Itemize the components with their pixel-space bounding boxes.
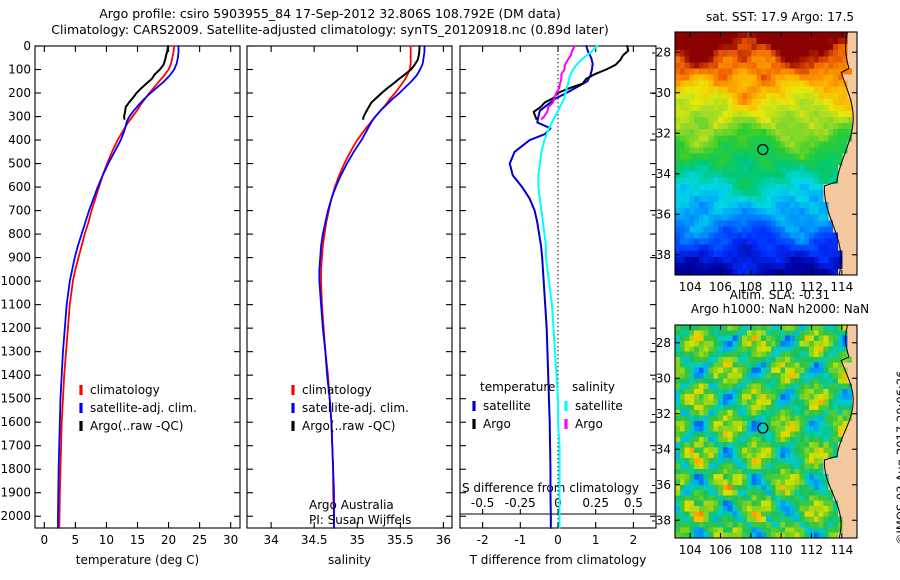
sla-map-cell — [771, 432, 776, 438]
sla-map-cell — [675, 357, 680, 363]
sst-map-cell — [737, 81, 742, 88]
sst-map-cell — [689, 111, 694, 118]
sla-map-cell — [728, 410, 733, 416]
sla-map-cell — [694, 352, 699, 358]
sst-map-cell — [732, 251, 737, 258]
sst-map-cell — [723, 87, 728, 94]
sst-map-cell — [675, 32, 680, 39]
sst-map-cell — [780, 154, 785, 161]
sla-map-cell — [843, 511, 848, 517]
sla-map-cell — [709, 479, 714, 485]
sla-map-cell — [771, 421, 776, 427]
sla-map-cell — [742, 432, 747, 438]
sst-map-cell — [680, 202, 685, 209]
sst-map-cell — [828, 38, 833, 45]
sst-map-cell — [723, 245, 728, 252]
sla-map-cell — [780, 341, 785, 347]
sla-map-cell — [723, 373, 728, 379]
sst-map-cell — [795, 245, 800, 252]
sst-map-ytick-label: -38 — [651, 248, 671, 262]
sst-map-cell — [780, 147, 785, 154]
sst-map-cell — [809, 220, 814, 227]
sst-map-cell — [766, 166, 771, 173]
sst-map-cell — [823, 99, 828, 106]
sla-map-cell — [800, 384, 805, 390]
sst-map-cell — [790, 160, 795, 167]
sst-map-cell — [756, 190, 761, 197]
sla-map-cell — [694, 330, 699, 336]
sst-map-cell — [718, 81, 723, 88]
sla-map-cell — [742, 362, 747, 368]
sst-map-cell — [752, 75, 757, 82]
sla-map-cell — [699, 495, 704, 501]
sst-map-cell — [785, 75, 790, 82]
sla-map-cell — [713, 362, 718, 368]
sla-map-cell — [718, 458, 723, 464]
sst-map-cell — [761, 178, 766, 185]
sst-map-cell — [823, 117, 828, 124]
sst-map-cell — [804, 239, 809, 246]
salinity-xtick-label: 36 — [436, 533, 451, 547]
sst-map-cell — [675, 220, 680, 227]
sst-map-cell — [814, 251, 819, 258]
sla-map-cell — [838, 453, 843, 459]
sla-map-cell — [728, 463, 733, 469]
sla-map-cell — [843, 394, 848, 400]
sla-map-cell — [737, 341, 742, 347]
sla-map-cell — [718, 437, 723, 443]
sst-map-cell — [771, 147, 776, 154]
sst-map-cell — [732, 172, 737, 179]
sst-map-cell — [737, 220, 742, 227]
sst-map-cell — [704, 62, 709, 69]
sst-map-cell — [747, 50, 752, 57]
temperature-curve-2 — [124, 46, 168, 119]
sla-map-cell — [742, 527, 747, 533]
sla-map-cell — [732, 495, 737, 501]
sst-map-cell — [847, 117, 852, 124]
sla-map-cell — [756, 495, 761, 501]
sla-map-cell — [828, 341, 833, 347]
sst-map-cell — [709, 117, 714, 124]
sla-map-cell — [780, 394, 785, 400]
sst-map-cell — [771, 123, 776, 130]
sla-map-cell — [847, 357, 852, 363]
sla-map-cell — [823, 352, 828, 358]
sst-map-cell — [675, 202, 680, 209]
sla-map-cell — [800, 485, 805, 491]
sla-map-cell — [823, 490, 828, 496]
sla-map-cell — [828, 426, 833, 432]
sst-map-cell — [795, 105, 800, 112]
sla-map-cell — [680, 458, 685, 464]
sst-map-cell — [723, 129, 728, 136]
sst-map-cell — [776, 68, 781, 75]
sla-map-cell — [785, 469, 790, 475]
sst-map-cell — [776, 117, 781, 124]
sla-map-cell — [685, 501, 690, 507]
sla-map-cell — [814, 517, 819, 523]
sla-map-cell — [732, 330, 737, 336]
sst-map-cell — [723, 56, 728, 63]
sst-map-cell — [833, 93, 838, 100]
sla-map-cell — [790, 362, 795, 368]
sst-map-cell — [819, 214, 824, 221]
sla-map-cell — [728, 421, 733, 427]
sla-map-cell — [704, 490, 709, 496]
sst-map-cell — [804, 257, 809, 264]
sla-map-cell — [776, 341, 781, 347]
sst-map-cell — [828, 129, 833, 136]
sst-map-cell — [680, 220, 685, 227]
sla-map-cell — [713, 458, 718, 464]
sla-map-cell — [814, 490, 819, 496]
sst-map-cell — [732, 166, 737, 173]
sla-map-cell — [776, 442, 781, 448]
sst-map-cell — [723, 141, 728, 148]
sst-map-cell — [675, 166, 680, 173]
sst-map-cell — [723, 208, 728, 215]
sla-map-cell — [761, 469, 766, 475]
sla-map-cell — [728, 527, 733, 533]
sla-map-cell — [800, 447, 805, 453]
sla-map-cell — [847, 495, 852, 501]
sla-map-cell — [675, 453, 680, 459]
sst-map-cell — [771, 166, 776, 173]
sst-map-cell — [790, 190, 795, 197]
sst-map-cell — [819, 202, 824, 209]
sst-map-ytick-label: -36 — [651, 207, 671, 221]
sla-map-cell — [771, 517, 776, 523]
sla-map-cell — [742, 495, 747, 501]
sst-map-cell — [737, 214, 742, 221]
sla-map-cell — [728, 479, 733, 485]
sst-map-cell — [742, 56, 747, 63]
sla-map-cell — [785, 362, 790, 368]
sst-map-cell — [713, 154, 718, 161]
sla-map-cell — [723, 453, 728, 459]
sla-map-cell — [800, 346, 805, 352]
sla-map-cell — [795, 368, 800, 374]
sla-map-cell — [689, 479, 694, 485]
sst-map-cell — [742, 166, 747, 173]
sla-map-cell — [675, 447, 680, 453]
sla-map-cell — [819, 410, 824, 416]
sst-map-cell — [689, 154, 694, 161]
sla-map-cell — [785, 474, 790, 480]
sla-map-cell — [685, 490, 690, 496]
sst-map-cell — [847, 257, 852, 264]
sla-map-cell — [819, 421, 824, 427]
sla-map-cell — [723, 352, 728, 358]
sst-map-cell — [709, 232, 714, 239]
sla-map-cell — [771, 522, 776, 528]
sst-map-cell — [771, 68, 776, 75]
sla-map-cell — [704, 511, 709, 517]
sla-map-cell — [823, 346, 828, 352]
sst-map-cell — [737, 184, 742, 191]
sst-map-cell — [785, 160, 790, 167]
sla-map-cell — [699, 447, 704, 453]
sla-map-cell — [819, 373, 824, 379]
sst-map-cell — [790, 220, 795, 227]
sst-map-cell — [828, 123, 833, 130]
sla-map-cell — [828, 336, 833, 342]
sla-map-cell — [675, 474, 680, 480]
sla-map-cell — [790, 463, 795, 469]
sst-map-cell — [823, 129, 828, 136]
sst-map-cell — [838, 226, 843, 233]
sst-map-cell — [819, 141, 824, 148]
sst-map-cell — [814, 239, 819, 246]
sst-map-cell — [685, 166, 690, 173]
sla-map-cell — [680, 373, 685, 379]
sla-map-cell — [742, 511, 747, 517]
sst-map-cell — [823, 68, 828, 75]
sst-map-cell — [776, 245, 781, 252]
sst-map-cell — [814, 196, 819, 203]
sst-map-cell — [761, 214, 766, 221]
sst-map-cell — [723, 226, 728, 233]
sla-map-cell — [814, 501, 819, 507]
sla-map-cell — [761, 373, 766, 379]
sla-map-cell — [694, 426, 699, 432]
sst-map-cell — [785, 257, 790, 264]
sla-map-cell — [780, 437, 785, 443]
sla-map-cell — [785, 330, 790, 336]
sla-map-cell — [790, 426, 795, 432]
sst-map-cell — [838, 135, 843, 142]
sst-map-cell — [723, 105, 728, 112]
sst-map-cell — [732, 81, 737, 88]
sla-map-cell — [718, 485, 723, 491]
sst-map-cell — [756, 56, 761, 63]
sst-map-cell — [771, 87, 776, 94]
sst-map-cell — [843, 135, 848, 142]
sst-map-cell — [809, 196, 814, 203]
sla-map-cell — [823, 336, 828, 342]
sst-map-cell — [761, 129, 766, 136]
sla-map-cell — [694, 463, 699, 469]
sla-map-cell — [771, 330, 776, 336]
sst-map-cell — [814, 220, 819, 227]
sla-map-cell — [804, 410, 809, 416]
sla-map-cell — [718, 517, 723, 523]
sst-map-cell — [756, 196, 761, 203]
sla-map-cell — [800, 410, 805, 416]
sla-map-cell — [689, 357, 694, 363]
sst-map-cell — [694, 99, 699, 106]
sla-map-cell — [790, 453, 795, 459]
sla-map-cell — [737, 453, 742, 459]
sla-map-cell — [704, 495, 709, 501]
sla-map-cell — [828, 346, 833, 352]
sst-map-cell — [771, 38, 776, 45]
difference-legend-label: Argo — [483, 417, 511, 431]
sst-map-cell — [723, 44, 728, 51]
sla-map-cell — [680, 416, 685, 422]
sst-map-cell — [680, 99, 685, 106]
sla-map-cell — [828, 325, 833, 331]
sla-map-cell — [776, 400, 781, 406]
difference-xtick-s-label: -0.5 — [471, 496, 494, 510]
sla-map-cell — [675, 463, 680, 469]
sst-map-cell — [704, 75, 709, 82]
sst-map-cell — [756, 232, 761, 239]
sla-map-cell — [771, 511, 776, 517]
sla-map-cell — [833, 469, 838, 475]
sst-map-cell — [780, 184, 785, 191]
sst-map-cell — [833, 251, 838, 258]
sla-map-cell — [761, 400, 766, 406]
sla-map-cell — [819, 389, 824, 395]
sst-map-cell — [699, 178, 704, 185]
sla-map-cell — [804, 517, 809, 523]
sla-map-cell — [847, 490, 852, 496]
sst-map-cell — [737, 147, 742, 154]
sla-map-cell — [752, 325, 757, 331]
sst-map-cell — [828, 32, 833, 39]
sla-map-cell — [804, 474, 809, 480]
sst-map-cell — [819, 56, 824, 63]
sst-map-cell — [689, 184, 694, 191]
sla-map-cell — [795, 432, 800, 438]
sla-map-cell — [819, 384, 824, 390]
sla-map-cell — [780, 416, 785, 422]
sst-map-cell — [823, 220, 828, 227]
sst-map-cell — [766, 75, 771, 82]
sst-map-cell — [742, 44, 747, 51]
sst-map-cell — [723, 190, 728, 197]
sla-map-cell — [728, 458, 733, 464]
sst-map-cell — [819, 75, 824, 82]
sst-map-cell — [828, 62, 833, 69]
sla-map-cell — [718, 506, 723, 512]
salinity-xtick-label: 35 — [350, 533, 365, 547]
sst-map-cell — [694, 81, 699, 88]
sla-map-cell — [838, 474, 843, 480]
sla-map-cell — [785, 410, 790, 416]
sst-map-cell — [814, 208, 819, 215]
sst-map-cell — [838, 62, 843, 69]
sst-map-cell — [776, 251, 781, 258]
salinity-xtick-label: 34.5 — [301, 533, 328, 547]
sla-map-cell — [828, 447, 833, 453]
sla-map-cell — [780, 495, 785, 501]
sst-map-cell — [747, 239, 752, 246]
sst-map-cell — [747, 226, 752, 233]
sla-map-cell — [761, 426, 766, 432]
sst-map-cell — [776, 50, 781, 57]
sla-map-cell — [694, 511, 699, 517]
sla-map-cell — [833, 389, 838, 395]
sst-map-cell — [723, 99, 728, 106]
sla-map-cell — [694, 437, 699, 443]
sst-map-cell — [728, 245, 733, 252]
sla-map-cell — [828, 474, 833, 480]
sla-map-cell — [795, 325, 800, 331]
sst-map-cell — [680, 154, 685, 161]
sla-map-cell — [675, 506, 680, 512]
sla-map-cell — [728, 336, 733, 342]
sla-map-cell — [809, 400, 814, 406]
sst-map-cell — [790, 50, 795, 57]
sst-map-cell — [704, 117, 709, 124]
sla-map-cell — [819, 336, 824, 342]
sst-map-cell — [800, 81, 805, 88]
sla-map-cell — [790, 479, 795, 485]
sst-map-cell — [847, 220, 852, 227]
sla-map-cell — [800, 378, 805, 384]
sst-map-cell — [685, 239, 690, 246]
sla-map-cell — [780, 485, 785, 491]
sst-map-title: sat. SST: 17.9 Argo: 17.5 — [660, 10, 900, 24]
sst-map-cell — [747, 232, 752, 239]
sst-map-cell — [761, 99, 766, 106]
sla-map-cell — [732, 469, 737, 475]
sla-map-cell — [843, 389, 848, 395]
sla-map-cell — [828, 368, 833, 374]
sla-map-cell — [790, 495, 795, 501]
sst-map-cell — [680, 75, 685, 82]
sla-map-cell — [742, 346, 747, 352]
sla-map-cell — [761, 485, 766, 491]
sst-map-cell — [809, 87, 814, 94]
sst-map-cell — [804, 166, 809, 173]
sla-map-cell — [843, 405, 848, 411]
sst-map-cell — [689, 123, 694, 130]
sst-map-cell — [723, 202, 728, 209]
sst-map-cell — [785, 226, 790, 233]
sst-map-cell — [847, 50, 852, 57]
sst-map-cell — [718, 184, 723, 191]
sla-map-cell — [709, 447, 714, 453]
sst-map-cell — [723, 68, 728, 75]
sla-map-cell — [675, 330, 680, 336]
sla-map-cell — [737, 352, 742, 358]
sst-map-cell — [800, 62, 805, 69]
sst-map-cell — [790, 184, 795, 191]
sla-map-cell — [795, 437, 800, 443]
sst-map-cell — [713, 184, 718, 191]
sla-map-ytick-label: -38 — [651, 513, 671, 527]
sst-map-cell — [685, 208, 690, 215]
sst-map-cell — [766, 50, 771, 57]
sla-map-cell — [804, 447, 809, 453]
sla-map-cell — [680, 389, 685, 395]
sst-map-cell — [689, 214, 694, 221]
sla-map-cell — [766, 453, 771, 459]
sla-map-cell — [843, 447, 848, 453]
sla-map-cell — [742, 421, 747, 427]
sla-map-cell — [685, 442, 690, 448]
sst-map-cell — [718, 166, 723, 173]
sst-map-cell — [685, 105, 690, 112]
sla-map-cell — [819, 346, 824, 352]
sst-map-cell — [675, 135, 680, 142]
sla-map-cell — [737, 378, 742, 384]
sla-map-cell — [833, 416, 838, 422]
sla-map-cell — [761, 495, 766, 501]
sst-map-cell — [814, 44, 819, 51]
sst-map-cell — [752, 99, 757, 106]
sst-map-cell — [771, 196, 776, 203]
sst-map-cell — [704, 81, 709, 88]
sla-map-cell — [737, 389, 742, 395]
sla-map-cell — [795, 357, 800, 363]
sla-map-cell — [761, 410, 766, 416]
sla-map-cell — [809, 501, 814, 507]
